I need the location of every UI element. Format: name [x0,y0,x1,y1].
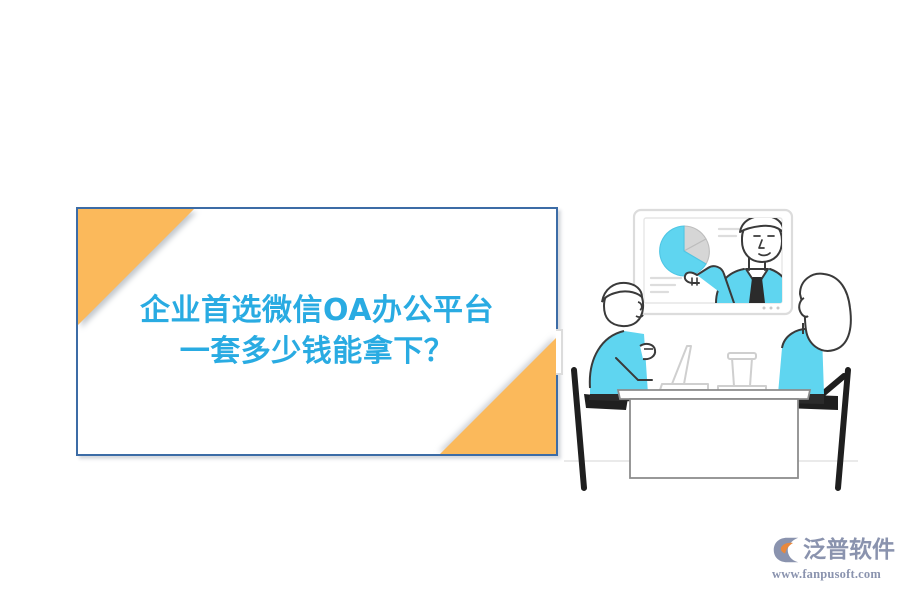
orange-corner-triangle-bottom-right [440,338,556,454]
conference-table [618,390,810,478]
logo-url: www.fanpusoft.com [772,567,890,582]
chair-left [574,370,584,488]
logo-wordmark: 泛普软件 [803,537,895,563]
pie-chart [660,226,710,276]
screen-indicator-dots [763,307,780,310]
logo-row: 泛普软件 [772,534,890,566]
brand-logo: 泛普软件 www.fanpusoft.com [772,534,890,586]
laptop [660,346,708,390]
orange-corner-triangle-top-left [78,209,194,325]
left-partition [556,330,562,374]
drinking-glass [718,353,766,391]
banner-title-line-2: 一套多少钱能拿下？ [180,332,455,373]
fanpu-logo-icon [772,536,800,564]
person-left-torso [590,331,648,394]
wall-mounted-display [634,210,792,314]
slide-canvas: 企业首选微信OA办公平台 一套多少钱能拿下？ [0,0,900,600]
banner-box: 企业首选微信OA办公平台 一套多少钱能拿下？ [76,207,558,456]
video-conference-meeting-illustration [556,198,866,494]
